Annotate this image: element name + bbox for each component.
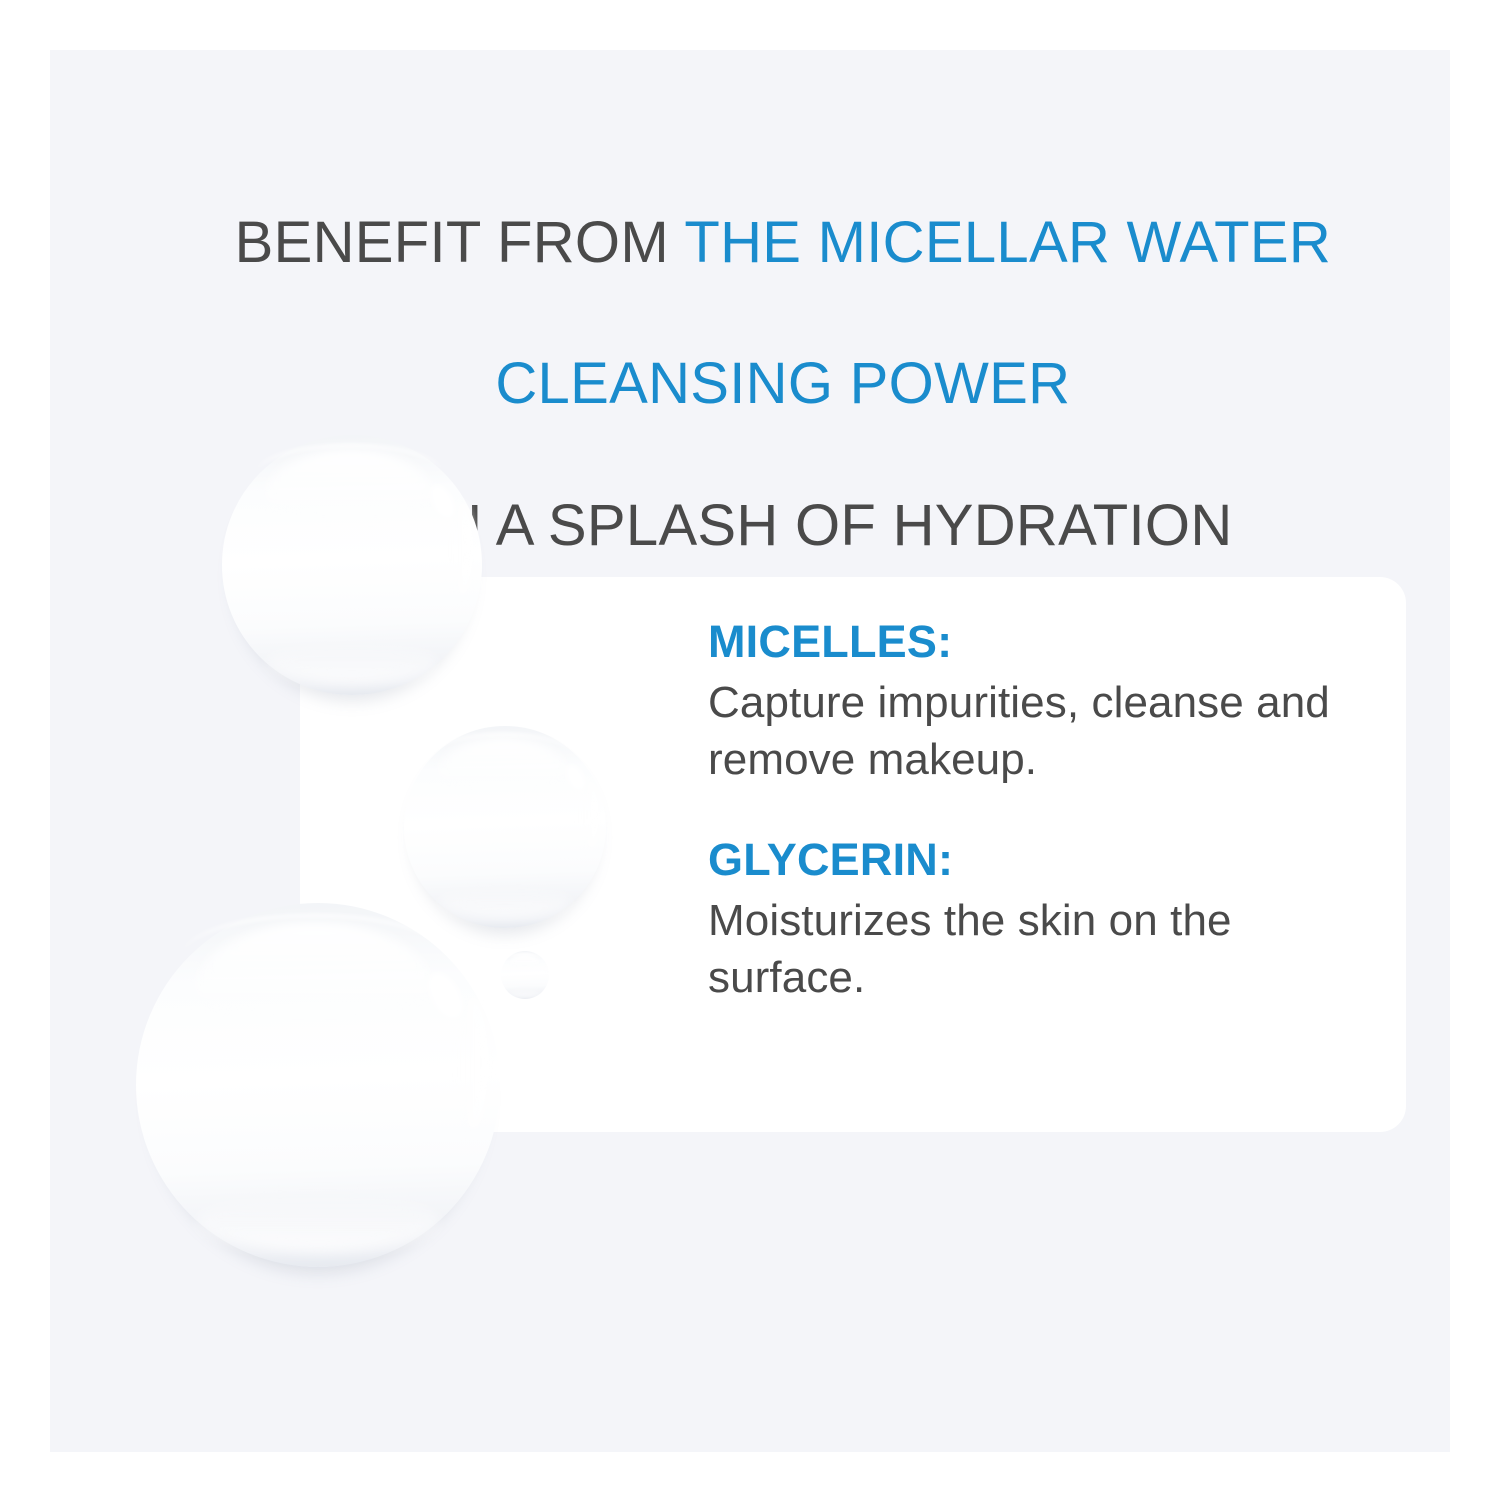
water-droplet-top-icon — [217, 430, 487, 700]
water-droplet-large-icon — [128, 895, 508, 1275]
droplet-top-arc — [429, 733, 576, 782]
droplet-under-light — [196, 1191, 439, 1252]
headline-line2-accent: CLEANSING POWER — [495, 351, 1070, 416]
ingredient-item-glycerin: GLYCERIN: Moisturizes the skin on the su… — [708, 834, 1368, 1006]
ingredient-title-micelles: MICELLES: — [708, 616, 1368, 668]
droplet-under-light — [266, 641, 439, 684]
ingredient-body-glycerin: Moisturizes the skin on the surface. — [708, 892, 1368, 1006]
ingredient-title-glycerin: GLYCERIN: — [708, 834, 1368, 886]
ingredient-item-micelles: MICELLES: Capture impurities, cleanse an… — [708, 616, 1368, 788]
droplet-edge-gloss — [543, 963, 548, 981]
headline-line1-prefix: BENEFIT FROM — [235, 210, 685, 275]
water-droplet-tiny-icon — [500, 950, 550, 1000]
ingredient-list: MICELLES: Capture impurities, cleanse an… — [708, 616, 1368, 1006]
ingredient-body-micelles: Capture impurities, cleanse and remove m… — [708, 674, 1368, 788]
droplet-top-arc — [255, 444, 444, 506]
product-benefit-infographic: BENEFIT FROM THE MICELLAR WATER CLEANSIN… — [0, 0, 1500, 1500]
droplet-top-arc — [507, 953, 542, 966]
droplet-top-arc — [181, 914, 447, 1001]
water-droplet-middle-icon — [400, 722, 610, 932]
droplet-under-light — [509, 989, 541, 997]
headline-line1-accent: THE MICELLAR WATER — [684, 210, 1331, 275]
